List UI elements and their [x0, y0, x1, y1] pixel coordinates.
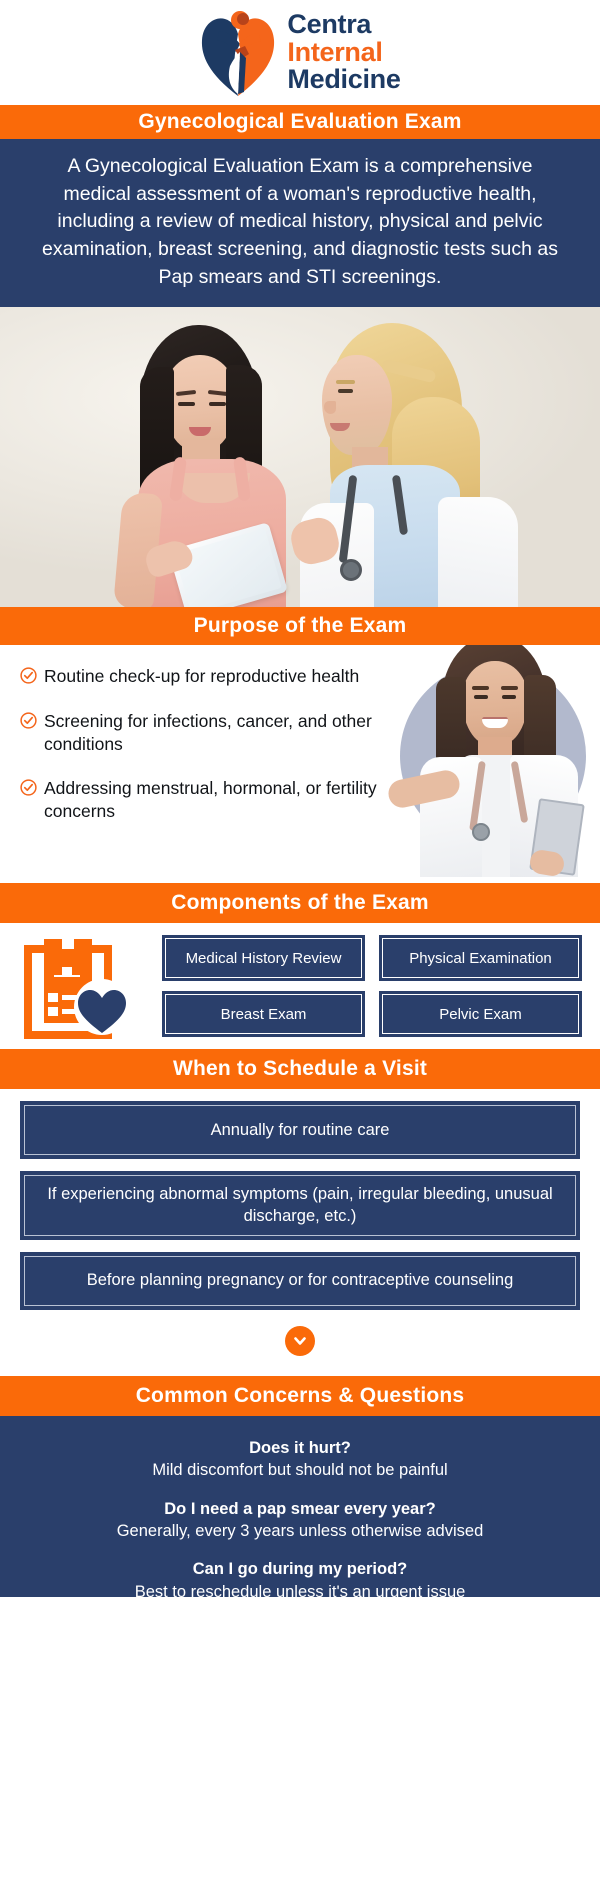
- check-circle-icon: [20, 712, 37, 729]
- faq-question: Does it hurt?: [20, 1438, 580, 1459]
- purpose-heading-banner: Purpose of the Exam: [0, 607, 600, 645]
- patient-eye-left: [178, 402, 195, 406]
- components-heading-banner: Components of the Exam: [0, 883, 600, 923]
- portrait-eye-left: [474, 695, 488, 699]
- schedule-heading-banner: When to Schedule a Visit: [0, 1049, 600, 1089]
- component-box[interactable]: Physical Examination: [379, 935, 582, 981]
- logo-line-2: Internal: [287, 39, 400, 67]
- doctor-nose: [324, 401, 336, 414]
- doctor-coat-right: [438, 497, 518, 607]
- faq-answer: Mild discomfort but should not be painfu…: [20, 1460, 580, 1481]
- check-circle-icon: [20, 779, 37, 796]
- doctor-brow: [336, 380, 355, 384]
- list-item: Screening for infections, cancer, and ot…: [20, 710, 380, 756]
- portrait-brow-left: [472, 686, 489, 690]
- clipboard-medical-heart-icon: [18, 933, 146, 1039]
- page-title-banner: Gynecological Evaluation Exam: [0, 105, 600, 139]
- faq-answer: Best to reschedule unless it's an urgent…: [20, 1582, 580, 1603]
- hero-photo: [0, 307, 600, 607]
- portrait-brow-right: [501, 686, 518, 690]
- patient-eye-right: [209, 402, 226, 406]
- component-box[interactable]: Breast Exam: [162, 991, 365, 1037]
- components-grid: Medical History Review Physical Examinat…: [162, 935, 582, 1037]
- heart-figures-logo-icon: [199, 8, 277, 98]
- logo-line-1: Centra: [287, 11, 400, 39]
- brand-header: Centra Internal Medicine: [0, 0, 600, 105]
- faq-question: Do I need a pap smear every year?: [20, 1499, 580, 1520]
- list-item-label: Screening for infections, cancer, and ot…: [44, 710, 380, 756]
- component-box[interactable]: Medical History Review: [162, 935, 365, 981]
- purpose-bullet-list: Routine check-up for reproductive health…: [0, 665, 400, 822]
- component-box[interactable]: Pelvic Exam: [379, 991, 582, 1037]
- faq-item: Do I need a pap smear every year? Genera…: [20, 1499, 580, 1543]
- doctor-portrait-photo: [386, 625, 594, 877]
- list-item: Routine check-up for reproductive health: [20, 665, 380, 688]
- components-section: Medical History Review Physical Examinat…: [0, 923, 600, 1049]
- faq-item: Can I go during my period? Best to resch…: [20, 1559, 580, 1603]
- portrait-eye-right: [502, 695, 516, 699]
- intro-paragraph: A Gynecological Evaluation Exam is a com…: [0, 139, 600, 307]
- logo-wordmark: Centra Internal Medicine: [287, 11, 400, 94]
- doctor-eye: [338, 389, 353, 393]
- faq-answer: Generally, every 3 years unless otherwis…: [20, 1521, 580, 1542]
- list-item-label: Routine check-up for reproductive health: [44, 665, 359, 688]
- logo-line-3: Medicine: [287, 66, 400, 94]
- list-item-label: Addressing menstrual, hormonal, or ferti…: [44, 777, 380, 823]
- check-circle-icon: [20, 667, 37, 684]
- infographic-page: Centra Internal Medicine Gynecological E…: [0, 0, 600, 1881]
- logo: Centra Internal Medicine: [199, 8, 400, 98]
- chevron-down-icon: [292, 1333, 308, 1349]
- faq-heading-banner: Common Concerns & Questions: [0, 1376, 600, 1416]
- chevron-down-button[interactable]: [285, 1326, 315, 1356]
- faq-section: Does it hurt? Mild discomfort but should…: [0, 1416, 600, 1597]
- schedule-item[interactable]: Annually for routine care: [20, 1101, 580, 1159]
- faq-item: Does it hurt? Mild discomfort but should…: [20, 1438, 580, 1482]
- schedule-item[interactable]: If experiencing abnormal symptoms (pain,…: [20, 1171, 580, 1239]
- schedule-item[interactable]: Before planning pregnancy or for contrac…: [20, 1252, 580, 1310]
- scroll-down-affordance[interactable]: [20, 1322, 580, 1366]
- list-item: Addressing menstrual, hormonal, or ferti…: [20, 777, 380, 823]
- faq-question: Can I go during my period?: [20, 1559, 580, 1580]
- schedule-section: Annually for routine care If experiencin…: [0, 1089, 600, 1375]
- portrait-face: [462, 661, 528, 745]
- purpose-section: Routine check-up for reproductive health…: [0, 645, 600, 883]
